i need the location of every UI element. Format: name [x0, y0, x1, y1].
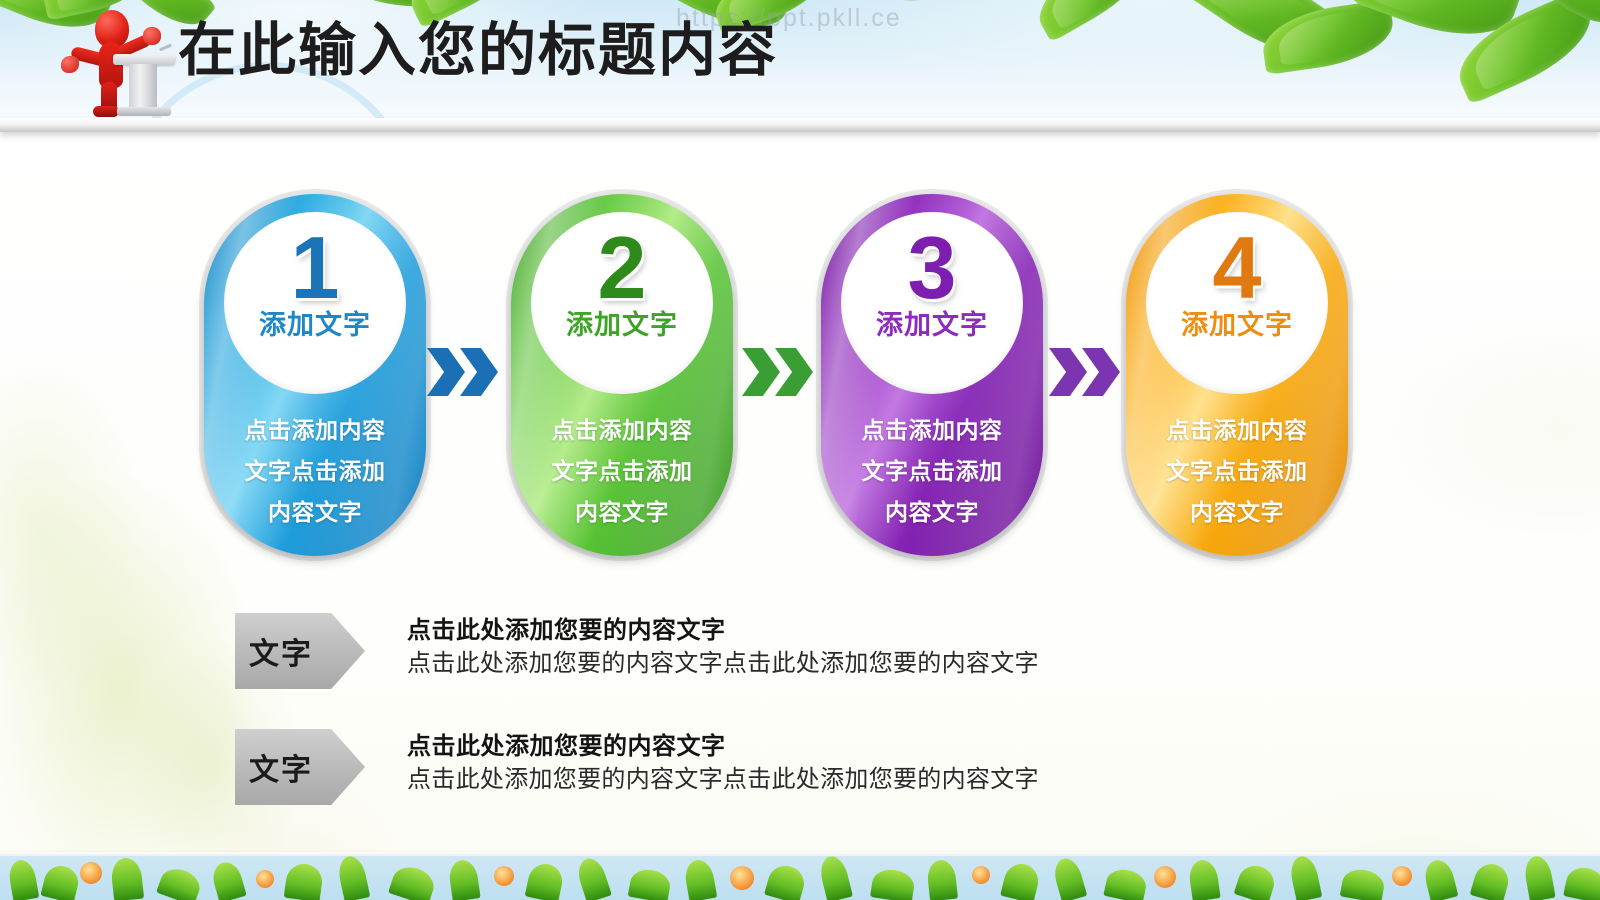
flower-icon	[972, 866, 990, 884]
grass-blade-icon	[683, 858, 718, 900]
flower-icon	[494, 866, 514, 886]
step-capsule-2[interactable]: 2 添加文字 点击添加内容 文字点击添加 内容文字	[511, 194, 733, 556]
double-chevron-right-icon-2	[742, 348, 816, 396]
grass-blade-icon	[1522, 856, 1555, 900]
step-body-line: 文字点击添加	[519, 451, 725, 492]
bullet-text-2: 点击此处添加您要的内容文字 点击此处添加您要的内容文字点击此处添加您要的内容文字	[407, 731, 1039, 798]
step-body-line: 点击添加内容	[519, 410, 725, 451]
step-body-line: 点击添加内容	[212, 410, 418, 451]
grass-blade-icon	[1234, 861, 1279, 900]
double-chevron-right-icon-1	[427, 348, 501, 396]
bullet-tag-1[interactable]: 文字	[235, 613, 365, 689]
bullet-heading: 点击此处添加您要的内容文字	[407, 731, 1039, 763]
grass-blade-icon	[870, 867, 916, 900]
bullet-heading: 点击此处添加您要的内容文字	[407, 615, 1039, 647]
grass-blade-icon	[574, 856, 612, 900]
step-body-4: 点击添加内容 文字点击添加 内容文字	[1134, 410, 1340, 533]
bullet-row-2: 文字 点击此处添加您要的内容文字 点击此处添加您要的内容文字点击此处添加您要的内…	[235, 729, 1335, 809]
grass-blade-icon	[388, 862, 438, 900]
step-caption-4: 添加文字	[1132, 312, 1342, 339]
grass-blade-icon	[1103, 866, 1148, 900]
bullet-tag-2[interactable]: 文字	[235, 729, 365, 805]
bullet-text-1: 点击此处添加您要的内容文字 点击此处添加您要的内容文字点击此处添加您要的内容文字	[407, 615, 1039, 682]
grass-blade-icon	[1051, 856, 1088, 900]
footer-foliage-band	[0, 856, 1600, 900]
grass-blade-icon	[1340, 867, 1387, 900]
grass-blade-icon	[110, 857, 144, 900]
step-body-3: 点击添加内容 文字点击添加 内容文字	[829, 410, 1035, 533]
step-body-line: 内容文字	[212, 492, 418, 533]
step-body-line: 内容文字	[1134, 492, 1340, 533]
grass-blade-icon	[764, 862, 808, 900]
grass-blade-icon	[1470, 860, 1513, 900]
step-body-line: 点击添加内容	[829, 410, 1035, 451]
step-number-2: 2	[531, 224, 713, 312]
step-number-circle-4: 4 添加文字	[1146, 212, 1328, 394]
slide-canvas: https://ppt.pkll.ce 在此输入您的标题内容 1 添加文字 点击	[0, 0, 1600, 900]
grass-blade-icon	[1288, 856, 1323, 900]
bullet-description: 点击此处添加您要的内容文字点击此处添加您要的内容文字	[407, 647, 1039, 682]
step-caption-2: 添加文字	[517, 312, 727, 339]
flower-icon	[1392, 866, 1412, 886]
flower-icon	[256, 870, 274, 888]
step-number-circle-1: 1 添加文字	[224, 212, 406, 394]
step-capsule-3[interactable]: 3 添加文字 点击添加内容 文字点击添加 内容文字	[821, 194, 1043, 556]
grass-blade-icon	[1422, 857, 1459, 900]
step-number-1: 1	[224, 224, 406, 312]
step-body-line: 文字点击添加	[829, 451, 1035, 492]
grass-blade-icon	[817, 856, 853, 900]
grass-blade-icon	[1000, 860, 1042, 900]
grass-blade-icon	[1187, 858, 1220, 900]
step-caption-1: 添加文字	[210, 312, 420, 339]
flower-icon	[730, 866, 754, 890]
grass-blade-icon	[525, 861, 566, 900]
grass-blade-icon	[628, 867, 673, 900]
grass-blade-icon	[336, 856, 371, 900]
step-capsule-4[interactable]: 4 添加文字 点击添加内容 文字点击添加 内容文字	[1126, 194, 1348, 556]
step-body-line: 内容文字	[829, 492, 1035, 533]
step-body-line: 点击添加内容	[1134, 410, 1340, 451]
step-body-2: 点击添加内容 文字点击添加 内容文字	[519, 410, 725, 533]
step-number-circle-3: 3 添加文字	[841, 212, 1023, 394]
grass-blade-icon	[284, 862, 325, 900]
bullet-tag-label: 文字	[235, 629, 327, 673]
grass-blade-icon	[40, 862, 81, 900]
double-chevron-right-icon-3	[1049, 348, 1123, 396]
step-number-3: 3	[841, 224, 1023, 312]
grass-blade-icon	[209, 859, 246, 900]
bullet-row-1: 文字 点击此处添加您要的内容文字 点击此处添加您要的内容文字点击此处添加您要的内…	[235, 613, 1335, 693]
grass-blade-icon	[447, 858, 480, 900]
flower-icon	[80, 862, 102, 884]
grass-blade-icon	[1563, 864, 1600, 900]
bullet-description: 点击此处添加您要的内容文字点击此处添加您要的内容文字	[407, 763, 1039, 798]
step-body-line: 内容文字	[519, 492, 725, 533]
step-caption-3: 添加文字	[827, 312, 1037, 339]
bullet-tag-label: 文字	[235, 745, 327, 789]
step-number-circle-2: 2 添加文字	[531, 212, 713, 394]
step-capsule-1[interactable]: 1 添加文字 点击添加内容 文字点击添加 内容文字	[204, 194, 426, 556]
grass-blade-icon	[7, 858, 40, 900]
flower-icon	[1154, 866, 1176, 888]
step-number-4: 4	[1146, 224, 1328, 312]
step-body-line: 文字点击添加	[1134, 451, 1340, 492]
step-body-1: 点击添加内容 文字点击添加 内容文字	[212, 410, 418, 533]
grass-blade-icon	[926, 859, 958, 900]
grass-blade-icon	[156, 864, 204, 900]
step-body-line: 文字点击添加	[212, 451, 418, 492]
